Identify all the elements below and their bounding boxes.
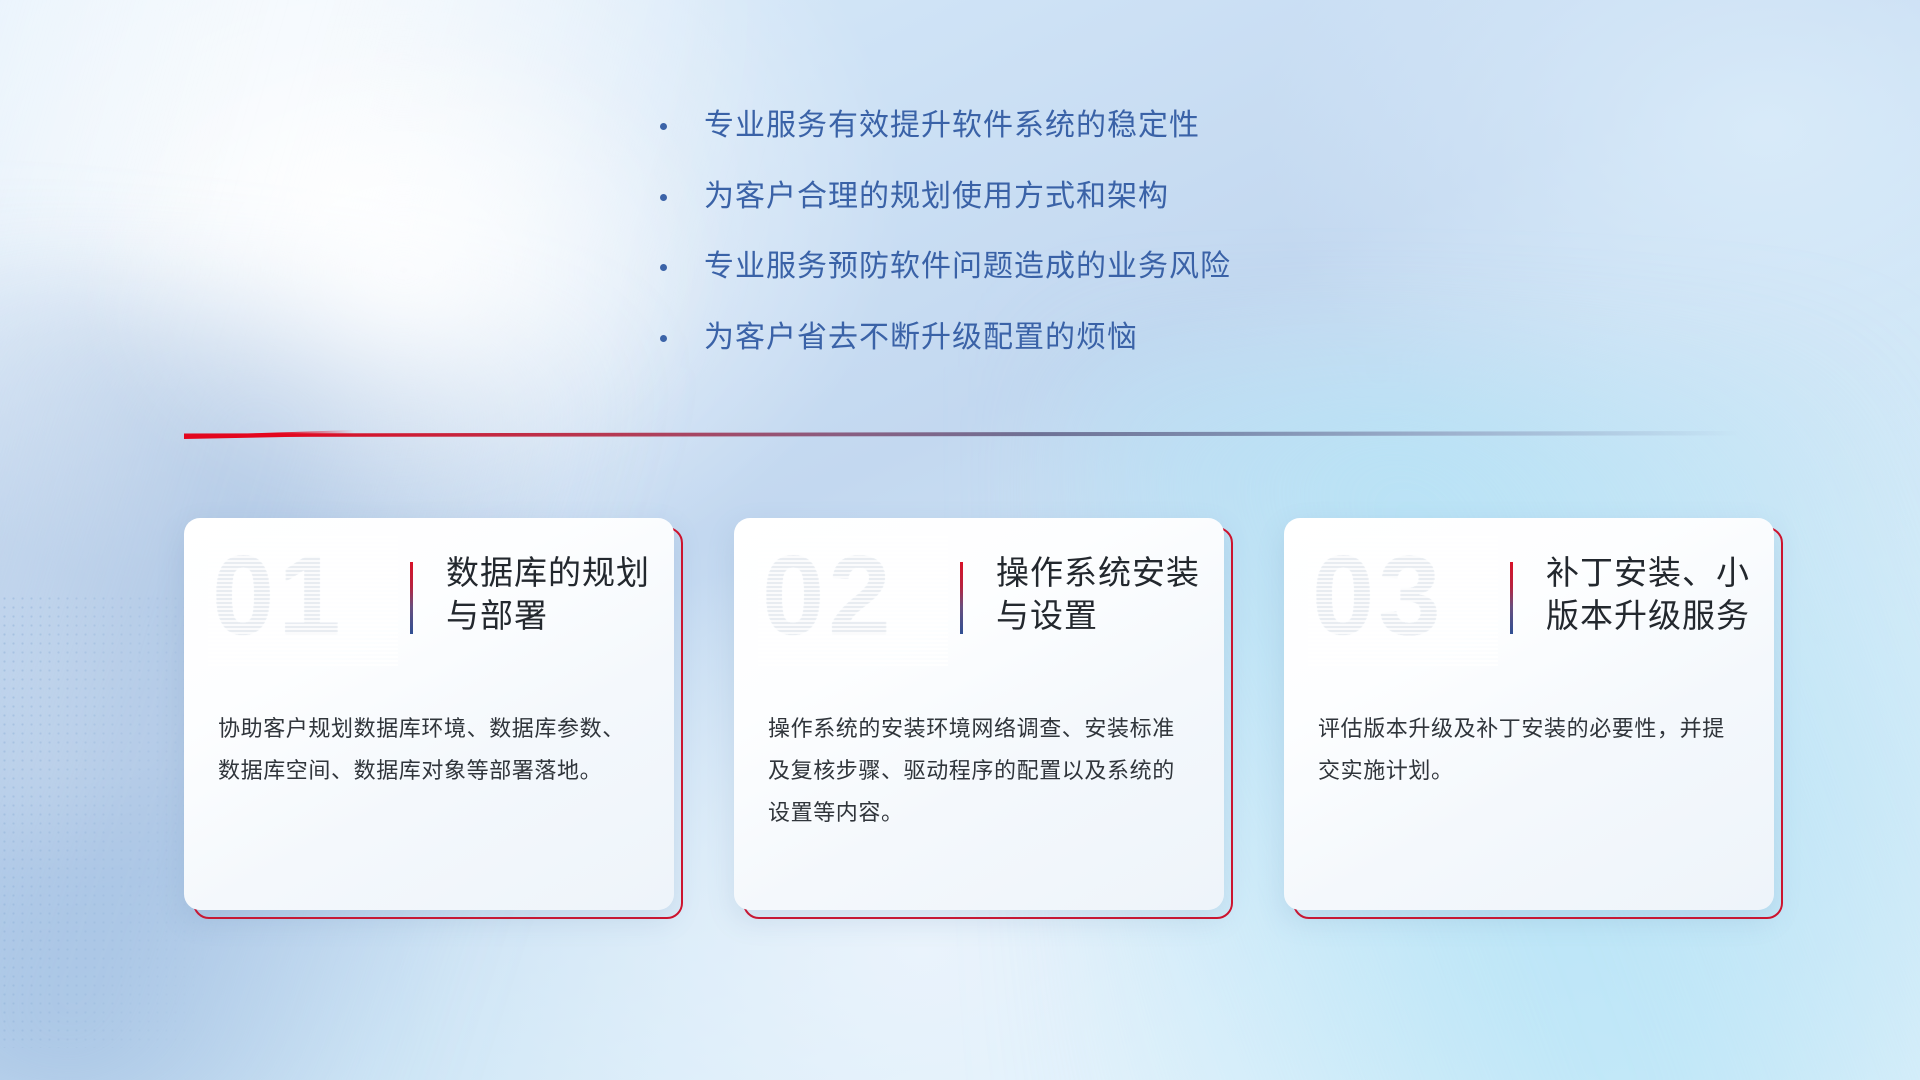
bullet-dot-icon xyxy=(660,335,667,342)
service-card-group: 01 01 数据库的规划与部署 协助客户规划数据库环境、数据库参数、数据库空间、… xyxy=(184,518,1774,910)
card-header: 02 02 操作系统安装与设置 xyxy=(734,518,1224,678)
card-surface: 03 03 补丁安装、小版本升级服务 评估版本升级及补丁安装的必要性，并提交实施… xyxy=(1284,518,1774,910)
bullet-text: 专业服务有效提升软件系统的稳定性 xyxy=(704,106,1200,146)
service-card-03[interactable]: 03 03 补丁安装、小版本升级服务 评估版本升级及补丁安装的必要性，并提交实施… xyxy=(1284,518,1774,910)
service-card-01[interactable]: 01 01 数据库的规划与部署 协助客户规划数据库环境、数据库参数、数据库空间、… xyxy=(184,518,674,910)
card-body-text: 协助客户规划数据库环境、数据库参数、数据库空间、数据库对象等部署落地。 xyxy=(218,708,644,792)
card-title-separator-bar xyxy=(960,562,963,634)
card-header: 03 03 补丁安装、小版本升级服务 xyxy=(1284,518,1774,678)
card-number-watermark: 01 xyxy=(212,540,345,652)
card-number-watermark: 03 xyxy=(1312,540,1445,652)
section-divider xyxy=(184,428,1739,442)
bullet-text: 专业服务预防软件问题造成的业务风险 xyxy=(704,247,1231,287)
benefits-bullet-list: 专业服务有效提升软件系统的稳定性 为客户合理的规划使用方式和架构 专业服务预防软… xyxy=(660,106,1420,388)
bullet-text: 为客户省去不断升级配置的烦恼 xyxy=(704,318,1138,358)
card-title: 补丁安装、小版本升级服务 xyxy=(1546,552,1761,638)
card-title-separator-bar xyxy=(410,562,413,634)
card-body-text: 操作系统的安装环境网络调查、安装标准及复核步骤、驱动程序的配置以及系统的设置等内… xyxy=(768,708,1194,835)
card-header: 01 01 数据库的规划与部署 xyxy=(184,518,674,678)
list-item: 为客户省去不断升级配置的烦恼 xyxy=(660,318,1420,358)
divider-gradient-line xyxy=(184,431,1739,437)
list-item: 专业服务有效提升软件系统的稳定性 xyxy=(660,106,1420,146)
bullet-dot-icon xyxy=(660,194,667,201)
card-body-text: 评估版本升级及补丁安装的必要性，并提交实施计划。 xyxy=(1318,708,1744,792)
card-surface: 02 02 操作系统安装与设置 操作系统的安装环境网络调查、安装标准及复核步骤、… xyxy=(734,518,1224,910)
service-card-02[interactable]: 02 02 操作系统安装与设置 操作系统的安装环境网络调查、安装标准及复核步骤、… xyxy=(734,518,1224,910)
card-number-watermark: 02 xyxy=(762,540,895,652)
card-title: 操作系统安装与设置 xyxy=(996,552,1211,638)
card-surface: 01 01 数据库的规划与部署 协助客户规划数据库环境、数据库参数、数据库空间、… xyxy=(184,518,674,910)
list-item: 专业服务预防软件问题造成的业务风险 xyxy=(660,247,1420,287)
bullet-dot-icon xyxy=(660,123,667,130)
card-title-separator-bar xyxy=(1510,562,1513,634)
background-glow-top-left xyxy=(77,22,730,519)
list-item: 为客户合理的规划使用方式和架构 xyxy=(660,177,1420,217)
card-title: 数据库的规划与部署 xyxy=(446,552,661,638)
bullet-dot-icon xyxy=(660,264,667,271)
bullet-text: 为客户合理的规划使用方式和架构 xyxy=(704,177,1169,217)
